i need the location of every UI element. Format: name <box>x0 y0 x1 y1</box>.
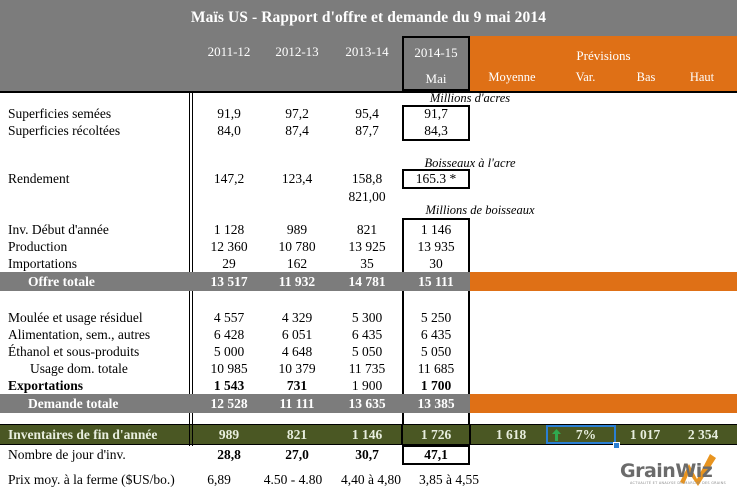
cell-exportations-2013: 1 900 <box>333 378 401 394</box>
row-offre-totale: Offre totale 13 517 11 932 14 781 15 111 <box>0 272 737 291</box>
cell-demande-totale-2012: 11 111 <box>264 396 330 412</box>
row-label-importations: Importations <box>8 256 77 272</box>
cell-alimentation-2011: 6 428 <box>196 327 262 343</box>
column-header-bas: Bas <box>616 70 676 85</box>
cell-offre-totale-2013: 14 781 <box>333 274 401 290</box>
cell-alimentation-2013: 6 435 <box>333 327 401 343</box>
cell-demande-totale-2011: 12 528 <box>196 396 262 412</box>
cell-offre-totale-2014: 15 111 <box>402 274 470 290</box>
cell-prix-moyen-2013: 4,40 à 4,80 <box>330 472 412 488</box>
row-label-superficies-semees: Superficies semées <box>8 106 111 122</box>
unit-label-bushels-per-acre: Boisseaux à l'acre <box>370 156 570 171</box>
column-header-haut: Haut <box>672 70 732 85</box>
supply-demand-report: Maïs US - Rapport d'offre et demande du … <box>0 0 737 492</box>
green-band-divider-b <box>192 424 193 445</box>
cell-usage-dom-2012: 10 379 <box>264 361 330 377</box>
grainwiz-logo: GrainWiz ACTUALITÉ ET ANALYSE DU MARCHÉ … <box>618 452 733 488</box>
cell-exportations-2011: 1 543 <box>196 378 262 394</box>
cell-production-2014: 13 935 <box>402 239 470 255</box>
row-label-moulee: Moulée et usage résiduel <box>8 310 143 326</box>
cell-jours-inv-2011: 28,8 <box>196 447 262 463</box>
column-header-2013-14: 2013-14 <box>333 44 401 60</box>
cell-rendement-2012: 123,4 <box>264 171 330 187</box>
cell-ethanol-2012: 4 648 <box>264 344 330 360</box>
cell-usage-dom-2014: 11 685 <box>402 361 470 377</box>
cell-production-2011: 12 360 <box>196 239 262 255</box>
var-cell-selection-handle[interactable] <box>613 442 620 449</box>
green-band-divider-forecast <box>469 424 471 445</box>
cell-jours-inv-2014: 47,1 <box>402 447 470 463</box>
cell-importations-2011: 29 <box>196 256 262 272</box>
row-label-offre-totale: Offre totale <box>28 274 95 290</box>
cell-inventaires-fin-2014: 1 726 <box>402 427 470 443</box>
cell-superficies-recoltees-2014: 84,3 <box>402 123 470 139</box>
column-header-2014-15: 2014-15 Mai <box>402 36 470 91</box>
cell-prix-moyen-2014: 3,85 à 4,55 <box>408 472 490 488</box>
row-label-superficies-recoltees: Superficies récoltées <box>8 123 120 139</box>
row-label-jours-inv: Nombre de jour d'inv. <box>8 447 126 463</box>
cell-inventaires-fin-2012: 821 <box>264 427 330 443</box>
cell-importations-2014: 30 <box>402 256 470 272</box>
cell-inventaires-fin-2013: 1 146 <box>333 427 401 443</box>
cell-rendement-2011: 147,2 <box>196 171 262 187</box>
cell-exportations-2012: 731 <box>264 378 330 394</box>
cell-superficies-semees-2012: 97,2 <box>264 106 330 122</box>
cell-demande-totale-2013: 13 635 <box>333 396 401 412</box>
grainwiz-wordmark: GrainWiz <box>620 460 712 482</box>
column-header-2014-15-month: Mai <box>404 71 468 87</box>
forecast-group-header: Prévisions <box>470 48 737 64</box>
column-header-2014-15-year: 2014-15 <box>404 45 468 61</box>
green-band-divider-2014 <box>401 424 403 445</box>
grainwiz-tagline: ACTUALITÉ ET ANALYSE DU MARCHÉ DES GRAIN… <box>630 481 726 485</box>
row-label-production: Production <box>8 239 67 255</box>
column-header-var: Var. <box>553 70 618 85</box>
header-bottom-rule <box>0 91 737 93</box>
green-band-divider-a <box>189 424 190 445</box>
cell-alimentation-2012: 6 051 <box>264 327 330 343</box>
column-header-moyenne: Moyenne <box>472 70 552 85</box>
cell-superficies-recoltees-2013: 87,7 <box>333 123 401 139</box>
cell-inventaires-fin-haut: 2 354 <box>674 427 732 443</box>
cell-demande-totale-2014: 13 385 <box>402 396 470 412</box>
cell-offre-totale-2012: 11 932 <box>264 274 330 290</box>
row-label-inv-debut: Inv. Début d'année <box>8 222 109 238</box>
cell-jours-inv-2013: 30,7 <box>333 447 401 463</box>
trend-up-arrow-icon <box>552 429 561 443</box>
row-label-prix-moyen: Prix moy. à la ferme ($US/bo.) <box>8 472 175 488</box>
cell-prix-moyen-2011: 6,89 <box>186 472 252 488</box>
column-header-2011-12: 2011-12 <box>196 44 262 60</box>
cell-offre-totale-2011: 13 517 <box>196 274 262 290</box>
cell-usage-dom-2013: 11 735 <box>333 361 401 377</box>
cell-inv-debut-2013: 821 <box>333 222 401 238</box>
row-label-alimentation: Alimentation, sem., autres <box>8 327 150 343</box>
row-demande-totale: Demande totale 12 528 11 111 13 635 13 3… <box>0 394 737 413</box>
cell-jours-inv-2012: 27,0 <box>264 447 330 463</box>
cell-ethanol-2013: 5 050 <box>333 344 401 360</box>
row-label-inventaires-fin: Inventaires de fin d'année <box>8 427 157 443</box>
cell-prix-moyen-2012: 4.50 - 4.80 <box>252 472 334 488</box>
row-label-demande-totale: Demande totale <box>28 396 118 412</box>
cell-inventaires-fin-moyenne: 1 618 <box>472 427 550 443</box>
row-inventaires-fin-annee: Inventaires de fin d'année 989 821 1 146… <box>0 424 737 445</box>
cell-production-2012: 10 780 <box>264 239 330 255</box>
cell-inv-debut-2014: 1 146 <box>402 222 470 238</box>
cell-ethanol-2011: 5 000 <box>196 344 262 360</box>
cell-importations-2013: 35 <box>333 256 401 272</box>
row-label-exportations: Exportations <box>8 378 83 394</box>
unit-label-acres: Millions d'acres <box>370 91 570 106</box>
demande-totale-forecast-fill <box>470 394 737 413</box>
cell-importations-2012: 162 <box>264 256 330 272</box>
offre-totale-forecast-fill <box>470 272 737 291</box>
cell-moulee-2013: 5 300 <box>333 310 401 326</box>
unit-label-million-bushels: Millions de boisseaux <box>370 203 590 218</box>
cell-inventaires-fin-2011: 989 <box>196 427 262 443</box>
page-title: Maïs US - Rapport d'offre et demande du … <box>0 0 737 36</box>
cell-superficies-semees-2011: 91,9 <box>196 106 262 122</box>
cell-superficies-semees-2014: 91,7 <box>402 106 470 122</box>
cell-rendement-2013: 158,8 <box>333 171 401 187</box>
cell-superficies-recoltees-2011: 84,0 <box>196 123 262 139</box>
cell-inv-debut-2012: 989 <box>264 222 330 238</box>
cell-rendement-extra: 821,00 <box>333 189 401 205</box>
row-label-ethanol: Éthanol et sous-produits <box>8 344 139 360</box>
cell-superficies-semees-2013: 95,4 <box>333 106 401 122</box>
cell-usage-dom-2011: 10 985 <box>196 361 262 377</box>
column-header-2012-13: 2012-13 <box>264 44 330 60</box>
cell-moulee-2012: 4 329 <box>264 310 330 326</box>
cell-alimentation-2014: 6 435 <box>402 327 470 343</box>
row-label-usage-dom: Usage dom. totale <box>30 361 128 377</box>
cell-inv-debut-2011: 1 128 <box>196 222 262 238</box>
cell-rendement-2014: 165.3 * <box>402 171 470 187</box>
row-label-rendement: Rendement <box>8 171 69 187</box>
cell-moulee-2014: 5 250 <box>402 310 470 326</box>
cell-production-2013: 13 925 <box>333 239 401 255</box>
cell-moulee-2011: 4 557 <box>196 310 262 326</box>
cell-inventaires-fin-bas: 1 017 <box>616 427 674 443</box>
cell-exportations-2014: 1 700 <box>402 378 470 394</box>
cell-superficies-recoltees-2012: 87,4 <box>264 123 330 139</box>
cell-ethanol-2014: 5 050 <box>402 344 470 360</box>
